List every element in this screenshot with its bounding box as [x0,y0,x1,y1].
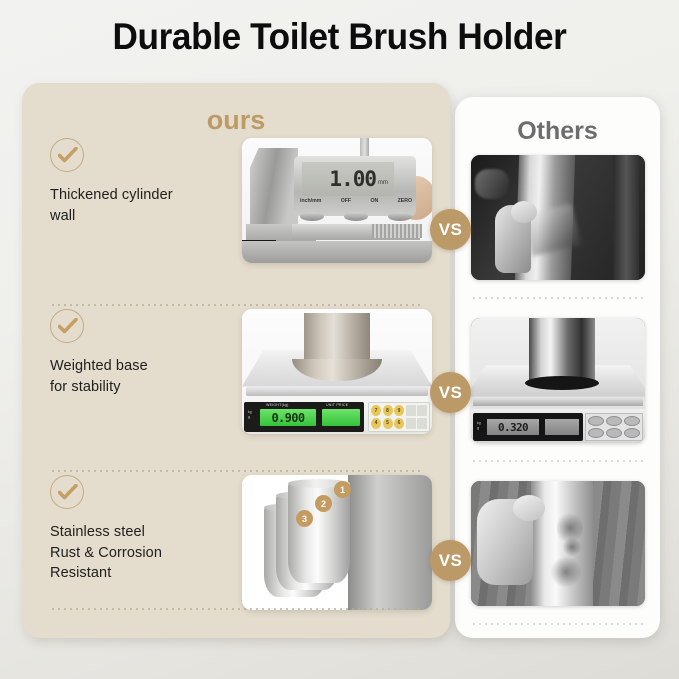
others-divider-1 [471,297,645,299]
vs-badge-2: VS [430,372,471,413]
others-heading: Others [455,117,660,146]
check-mark-icon [58,318,78,336]
ours-panel: ours Thickened cylinder wall 1.00 [22,83,450,638]
caliper-btn-off: OFF [341,198,351,204]
ours-heading: ours [22,105,450,136]
check-circle-icon [50,475,84,509]
ours-divider-2 [50,470,422,472]
caliper-button-labels: inch/mm OFF ON ZERO [300,198,412,204]
others-image-card-1 [471,155,645,280]
caliper-btn-on: ON [370,198,378,204]
scale-key: 8 [383,405,393,416]
feature-label-1: Thickened cylinder wall [50,185,230,226]
others-divider-3 [471,623,645,625]
others-scale-weight-display: 0.320 [487,419,539,435]
others-scale-key [588,428,604,438]
ours-feature-row-2: Weighted base for stability kgg WEIGHT(k… [22,309,450,474]
others-scale-key [624,428,640,438]
check-circle-icon [50,138,84,172]
ours-image-card-2: kgg WEIGHT(kg) 0.900 UNIT PRICE 7 8 9 [242,309,432,434]
weight-scale-ours-art: kgg WEIGHT(kg) 0.900 UNIT PRICE 7 8 9 [242,309,432,434]
scale-key: 9 [394,405,404,416]
feature-label-2: Weighted base for stability [50,356,230,397]
others-scale-indicators: kgg [477,421,481,432]
ours-image-card-1: 1.00 mm inch/mm OFF ON ZERO [242,138,432,263]
check-mark-icon [58,484,78,502]
check-circle-icon [50,309,84,343]
scale-price-display [322,409,360,426]
vs-badge-1: VS [430,209,471,250]
feature-text-3: Stainless steel Rust & Corrosion Resista… [50,475,230,584]
thin-wall-crushed-cylinder-art [471,155,645,280]
others-divider-2 [471,460,645,462]
scale-key: 7 [371,405,381,416]
scale-key [406,418,416,429]
caliper-knobs [298,212,416,224]
others-scale-key [588,416,604,426]
feature-text-2: Weighted base for stability [50,309,230,397]
caliper-unit: mm [378,180,388,186]
ours-feature-row-3: Stainless steel Rust & Corrosion Resista… [22,475,450,645]
rusted-corroded-cylinder-art [471,481,645,606]
vs-badge-3: VS [430,540,471,581]
feature-label-3: Stainless steel Rust & Corrosion Resista… [50,522,230,584]
layer-badge-1: 1 [334,481,351,498]
others-scale-key [624,416,640,426]
scale-side-indicators: kgg [248,410,252,421]
layer-badge-3: 3 [296,510,313,527]
scale-key [417,418,427,429]
page-title: Durable Toilet Brush Holder [17,16,662,58]
others-scale-reading: 0.320 [498,421,528,434]
others-scale-keypad [585,413,643,441]
ours-divider-3 [50,608,422,610]
feature-text-1: Thickened cylinder wall [50,138,230,226]
scale-weight-display: 0.900 [260,409,316,426]
weight-scale-others-art: kgg 0.320 [471,318,645,443]
others-scale-key [606,416,622,426]
scale-key: 5 [383,418,393,429]
ours-divider-1 [50,304,422,306]
others-image-card-2: kgg 0.320 [471,318,645,443]
scale-weight-label: WEIGHT(kg) [266,403,289,407]
scale-key: 4 [371,418,381,429]
scale-reading: 0.900 [271,411,304,425]
others-panel: Others kgg 0.320 [455,97,660,638]
others-scale-key [606,428,622,438]
ours-feature-row-1: Thickened cylinder wall 1.00 mm inch/mm … [22,138,450,303]
scale-price-label: UNIT PRICE [326,403,348,407]
scale-key: 6 [394,418,404,429]
scale-keypad: 7 8 9 4 5 6 [368,402,430,432]
caliper-btn-inchmm: inch/mm [300,198,321,204]
digital-caliper-measurement-art: 1.00 mm inch/mm OFF ON ZERO [242,138,432,263]
others-scale-price-display [545,419,579,435]
ours-image-card-3: 1 2 3 [242,475,432,610]
scale-key [417,405,427,416]
caliper-btn-zero: ZERO [398,198,412,204]
caliper-reading: 1.00 [329,167,376,191]
scale-key [406,405,416,416]
stainless-steel-layers-art: 1 2 3 [242,475,432,610]
others-image-card-3 [471,481,645,606]
check-mark-icon [58,147,78,165]
layer-badge-2: 2 [315,495,332,512]
